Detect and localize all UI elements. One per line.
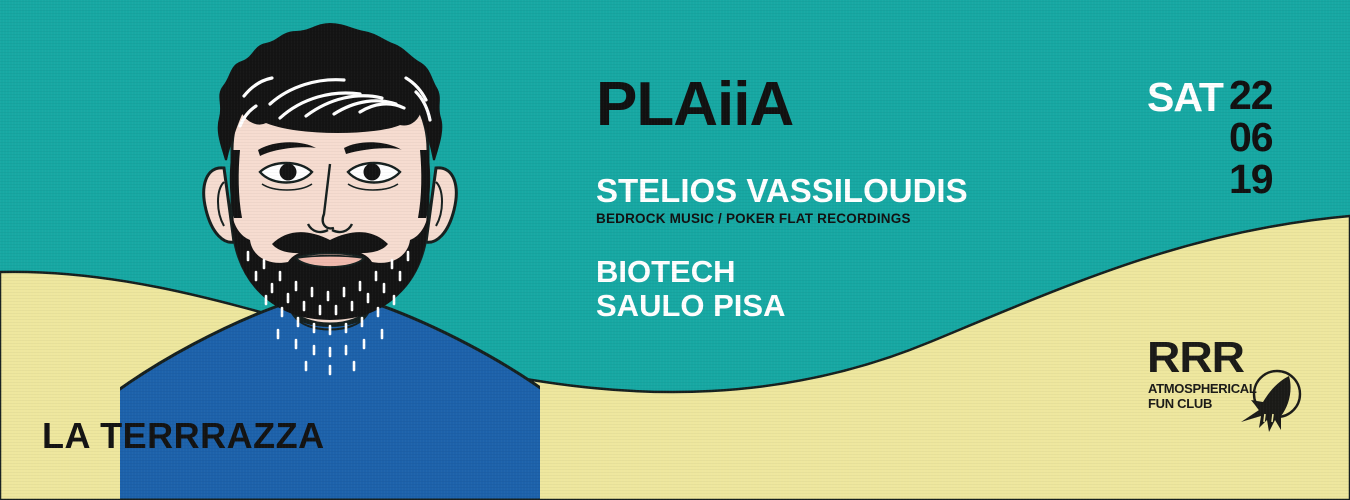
artist-list: BIOTECH SAULO PISA: [596, 255, 1116, 324]
venue-name: LA TERRRAZZA: [42, 418, 325, 454]
date-numerals: 22 06 19: [1229, 75, 1273, 200]
date-weekday: SAT: [1147, 77, 1223, 118]
artist-item: BIOTECH: [596, 255, 1116, 290]
headliner-name: PLAiiA: [596, 74, 1116, 136]
club-logo-mark: RRR: [1147, 336, 1244, 380]
event-date: SAT 22 06 19: [1147, 75, 1273, 200]
date-month-number: 06: [1229, 117, 1273, 159]
club-logo: RRR ATMOSPHERICAL FUN CLUB: [1143, 336, 1303, 446]
support-artist-labels: BEDROCK MUSIC / POKER FLAT RECORDINGS: [596, 212, 1116, 226]
support-artist-name: STELIOS VASSILOUDIS: [596, 174, 1116, 207]
rocket-icon: [1235, 362, 1307, 440]
date-day-number: 22: [1229, 75, 1273, 117]
artist-item: SAULO PISA: [596, 289, 1116, 324]
lineup-block: PLAiiA STELIOS VASSILOUDIS BEDROCK MUSIC…: [596, 74, 1116, 324]
event-flyer: PLAiiA STELIOS VASSILOUDIS BEDROCK MUSIC…: [0, 0, 1350, 500]
date-year-number: 19: [1229, 159, 1273, 201]
